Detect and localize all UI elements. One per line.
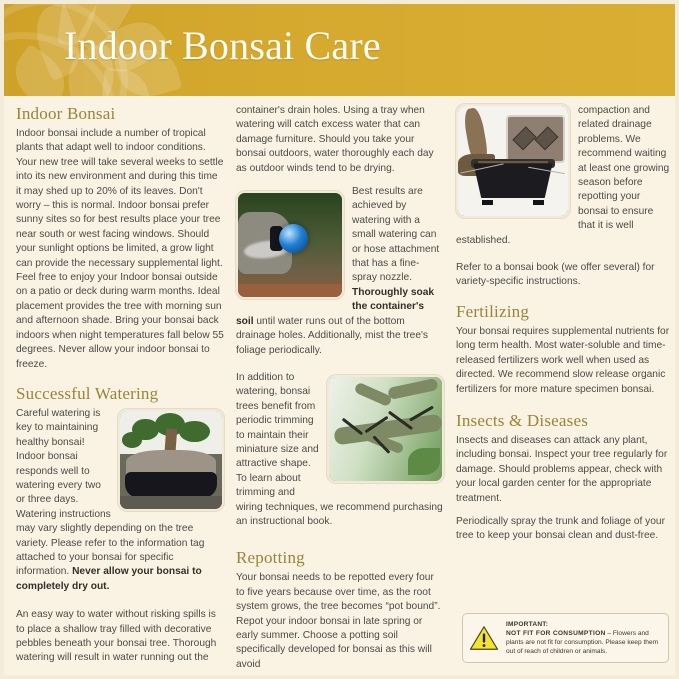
paragraph-indoor-bonsai: Indoor bonsai include a number of tropic… bbox=[16, 127, 224, 372]
photo-inset-drainage-view bbox=[506, 115, 565, 163]
page-root: Indoor Bonsai Care Indoor Bonsai Indoor … bbox=[0, 0, 679, 679]
paragraph-insects-1: Insects and diseases can attack any plan… bbox=[456, 434, 671, 506]
warning-box: IMPORTANT: NOT FIT FOR CONSUMPTION – Flo… bbox=[462, 613, 669, 663]
photo-pot-foot-2 bbox=[533, 200, 544, 206]
column-middle: container's drain holes. Using a tray wh… bbox=[236, 104, 444, 675]
column-left: Indoor Bonsai Indoor bonsai include a nu… bbox=[16, 104, 224, 675]
photo-base bbox=[238, 284, 342, 298]
warning-line-1: IMPORTANT: bbox=[506, 620, 661, 629]
photo-drain-hole-2 bbox=[534, 126, 558, 150]
heading-successful-watering: Successful Watering bbox=[16, 384, 224, 404]
heading-repotting: Repotting bbox=[236, 548, 444, 568]
paragraph-drain-holes: container's drain holes. Using a tray wh… bbox=[236, 104, 444, 176]
warning-triangle-icon bbox=[469, 625, 499, 651]
photo-pot-body bbox=[125, 472, 217, 498]
column-right: compaction and related drainage problems… bbox=[456, 104, 671, 675]
paragraph-repotting: Your bonsai needs to be repotted every f… bbox=[236, 571, 444, 672]
content-columns: Indoor Bonsai Indoor bonsai include a nu… bbox=[4, 104, 675, 675]
photo-foliage-3 bbox=[179, 421, 210, 443]
bonsai-pot-photo bbox=[118, 409, 224, 511]
heading-insects-diseases: Insects & Diseases bbox=[456, 411, 671, 431]
photo-blue-nozzle bbox=[279, 224, 308, 253]
page-header: Indoor Bonsai Care bbox=[4, 4, 675, 96]
photo-pot-foot-1 bbox=[482, 200, 493, 206]
paragraph-refer-book: Refer to a bonsai book (we offer several… bbox=[456, 261, 671, 290]
best-results-c: until water runs out of the bottom drain… bbox=[236, 316, 428, 356]
photo-leaf-1 bbox=[408, 448, 440, 475]
warning-text: IMPORTANT: NOT FIT FOR CONSUMPTION – Flo… bbox=[506, 620, 661, 656]
heading-indoor-bonsai: Indoor Bonsai bbox=[16, 104, 224, 124]
pot-drainage-photo bbox=[456, 104, 570, 218]
best-results-a: Best results are achieved by watering wi… bbox=[352, 186, 439, 283]
header-divider bbox=[4, 96, 675, 100]
hose-nozzle-photo bbox=[236, 191, 344, 299]
paragraph-watering-2: An easy way to water without risking spi… bbox=[16, 608, 224, 666]
paragraph-insects-2: Periodically spray the trunk and foliage… bbox=[456, 515, 671, 544]
heading-fertilizing: Fertilizing bbox=[456, 302, 671, 322]
warning-line-2-strong: NOT FIT FOR CONSUMPTION bbox=[506, 630, 606, 637]
photo-gravel bbox=[120, 496, 222, 509]
paragraph-fertilizing: Your bonsai requires supplemental nutrie… bbox=[456, 325, 671, 397]
ornament-petal-8 bbox=[99, 68, 152, 96]
page-title: Indoor Bonsai Care bbox=[64, 22, 381, 69]
wired-branch-photo bbox=[327, 375, 444, 483]
photo-drain-hole-1 bbox=[512, 126, 536, 150]
